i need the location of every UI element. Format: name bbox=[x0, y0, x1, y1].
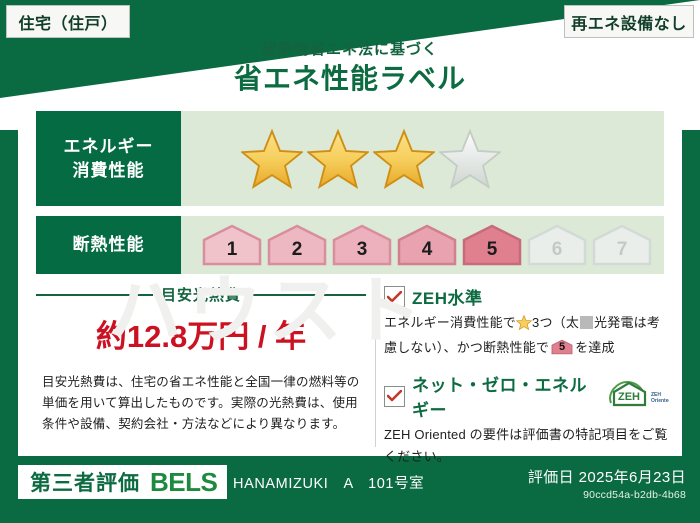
header-subtitle: 建築物省エネ法に基づく bbox=[0, 40, 700, 60]
check-title-net-zero-energy: ネット・ゼロ・エネルギー ZEH ZEH Oriented bbox=[384, 371, 669, 421]
star-icon-filled-1 bbox=[241, 128, 303, 190]
cost-heading: 目安光熱費 bbox=[36, 284, 366, 305]
check-label-net-zero-energy: ネット・ゼロ・エネルギー bbox=[412, 371, 598, 421]
insulation-house-1: 1 bbox=[201, 224, 263, 266]
check-block-net-zero-energy: ネット・ゼロ・エネルギー ZEH ZEH Oriented ZEH Orient… bbox=[384, 371, 669, 468]
cost-note: 目安光熱費は、住宅の省エネ性能と全国一律の燃料等の単価を用いて算出したものです。… bbox=[36, 372, 366, 435]
bels-badge-jp: 第三者評価 bbox=[30, 467, 140, 497]
svg-text:Oriented: Oriented bbox=[651, 398, 669, 404]
checks-section: ZEH水準 エネルギー消費性能で3つ（太光発電は考慮しない）、かつ断熱性能で5を… bbox=[384, 284, 669, 474]
main-card: ハウスト エネルギー 消費性能 bbox=[18, 101, 682, 456]
insulation-house-5: 5 bbox=[461, 224, 523, 266]
cost-heading-text: 目安光熱費 bbox=[161, 284, 241, 305]
insulation-house-inline-label: 5 bbox=[551, 339, 573, 355]
zeh-logo-icon: ZEH ZEH Oriented bbox=[607, 379, 669, 414]
insulation-house-4: 4 bbox=[396, 224, 458, 266]
insulation-house-2: 2 bbox=[266, 224, 328, 266]
row-insulation-label-text: 断熱性能 bbox=[73, 233, 145, 257]
insulation-house-inline-icon: 5 bbox=[551, 339, 573, 355]
header: 建築物省エネ法に基づく 省エネ性能ラベル bbox=[0, 40, 700, 96]
check-body-net-zero-energy: ZEH Oriented の要件は評価書の特記項目をご覧ください。 bbox=[384, 424, 669, 468]
vertical-divider bbox=[375, 284, 376, 447]
building-name: HANAMIZUKI A 101号室 bbox=[233, 472, 424, 493]
check-label-zeh-level: ZEH水準 bbox=[412, 284, 483, 309]
check-block-zeh-level: ZEH水準 エネルギー消費性能で3つ（太光発電は考慮しない）、かつ断熱性能で5を… bbox=[384, 284, 669, 359]
checkbox-checked-icon-net-zero[interactable] bbox=[384, 386, 405, 407]
row-insulation-value: 1 2 3 4 5 bbox=[181, 216, 664, 274]
row-insulation-performance: 断熱性能 1 2 3 bbox=[36, 216, 664, 274]
row-insulation-label: 断熱性能 bbox=[36, 216, 181, 274]
evaluation-id: 90ccd54a-b2db-4b68 bbox=[528, 489, 686, 501]
star-rating bbox=[181, 128, 501, 190]
page-title: 省エネ性能ラベル bbox=[0, 62, 700, 96]
energy-performance-label: 住宅（住戸） 再エネ設備なし 建築物省エネ法に基づく 省エネ性能ラベル ハウスト… bbox=[0, 0, 700, 523]
check-body-part-b: 3つ（太 bbox=[532, 315, 579, 330]
star-icon-inline bbox=[516, 315, 532, 337]
check-body-part-d: を達成 bbox=[575, 340, 615, 355]
bels-badge: 第三者評価 BELS bbox=[18, 465, 227, 499]
star-icon-filled-3 bbox=[373, 128, 435, 190]
insulation-scale: 1 2 3 4 5 bbox=[181, 224, 653, 266]
check-title-zeh-level: ZEH水準 bbox=[384, 284, 669, 309]
insulation-house-7: 7 bbox=[591, 224, 653, 266]
row-energy-value bbox=[181, 111, 664, 206]
check-body-zeh-level: エネルギー消費性能で3つ（太光発電は考慮しない）、かつ断熱性能で5を達成 bbox=[384, 312, 669, 359]
checkbox-checked-icon-zeh-level[interactable] bbox=[384, 286, 405, 307]
insulation-house-3: 3 bbox=[331, 224, 393, 266]
tag-renewable-energy: 再エネ設備なし bbox=[564, 5, 694, 38]
star-icon-empty-4 bbox=[439, 128, 501, 190]
check-body-part-a: エネルギー消費性能で bbox=[384, 315, 516, 330]
tag-building-type: 住宅（住戸） bbox=[6, 5, 130, 38]
row-energy-label: エネルギー 消費性能 bbox=[36, 111, 181, 206]
redaction-block-icon bbox=[580, 316, 593, 329]
row-energy-label-line2: 消費性能 bbox=[73, 159, 145, 183]
svg-text:ZEH: ZEH bbox=[618, 391, 640, 403]
star-icon-filled-2 bbox=[307, 128, 369, 190]
row-energy-performance: エネルギー 消費性能 bbox=[36, 111, 664, 206]
cost-section: 目安光熱費 約12.8万円 / 年 目安光熱費は、住宅の省エネ性能と全国一律の燃… bbox=[36, 284, 366, 435]
row-energy-label-line1: エネルギー bbox=[64, 135, 154, 159]
cost-value: 約12.8万円 / 年 bbox=[36, 311, 366, 356]
bels-badge-en: BELS bbox=[150, 467, 217, 498]
insulation-house-6: 6 bbox=[526, 224, 588, 266]
